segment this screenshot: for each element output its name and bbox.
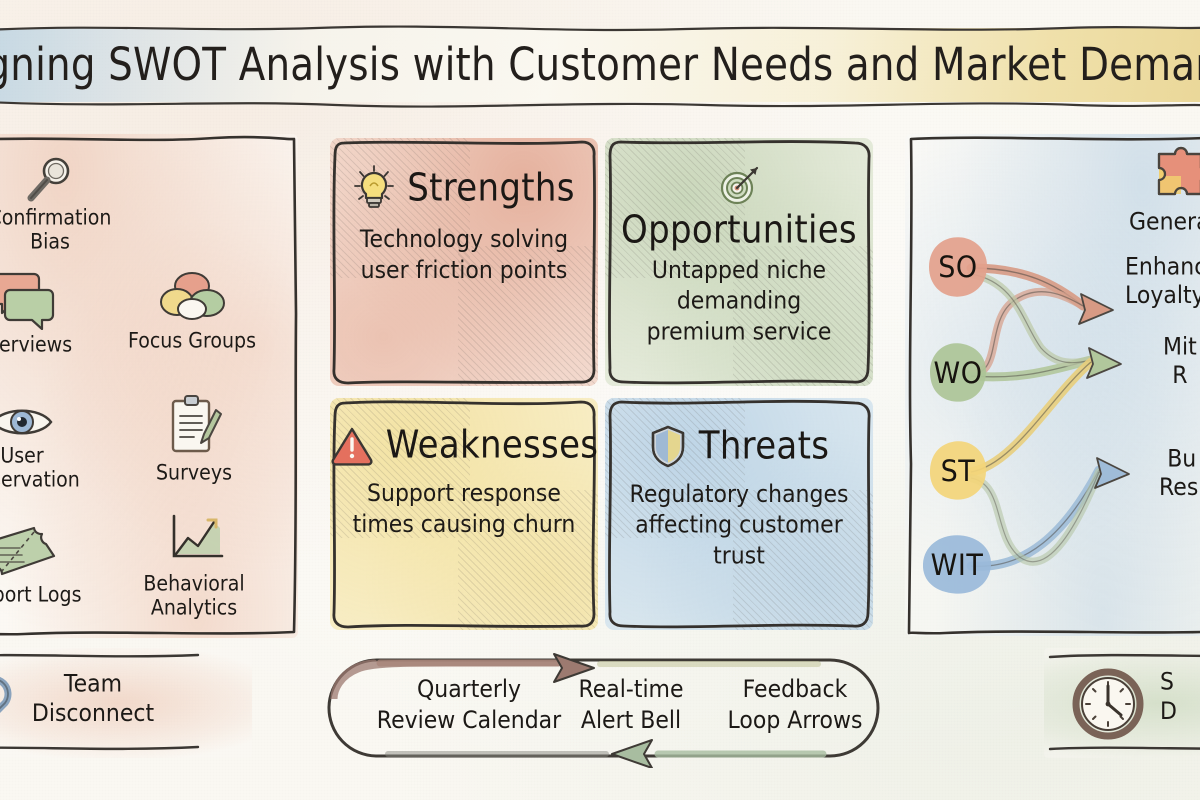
strategy-matrix-panel: SO WO ST WIT Generali Enhance Loyalty Mi… xyxy=(905,134,1200,636)
target-icon xyxy=(716,164,762,208)
badge-st[interactable]: ST xyxy=(927,439,989,503)
line-chart-icon xyxy=(158,510,230,570)
chip-slow-decision: S D xyxy=(1044,648,1200,758)
outcome-label-generalization: Generali xyxy=(1129,209,1200,238)
left-item-interviews: Interviews xyxy=(0,268,98,356)
swot-card-threats[interactable]: Threats Regulatory changes affecting cus… xyxy=(605,398,873,630)
opportunities-title: Opportunities xyxy=(621,208,857,253)
left-item-surveys: Surveys xyxy=(114,392,274,484)
threats-body: Regulatory changes affecting customer tr… xyxy=(612,480,867,572)
left-item-label: Interviews xyxy=(0,333,98,357)
weaknesses-title: Weaknesses xyxy=(386,423,599,468)
feedback-label-loop-arrows: Feedback Loop Arrows xyxy=(710,675,880,737)
opportunities-body: Untapped niche demanding premium service xyxy=(629,256,850,348)
left-item-label: User Observation xyxy=(0,444,102,492)
badge-wo[interactable]: WO xyxy=(927,341,989,405)
broken-link-icon xyxy=(0,670,24,732)
threats-title: Threats xyxy=(699,424,829,469)
feedback-label-realtime-alert: Real-time Alert Bell xyxy=(556,675,706,737)
lightbulb-icon xyxy=(353,164,395,212)
swot-card-strengths[interactable]: Strengths Technology solving user fricti… xyxy=(330,138,598,386)
outcome-label-build-resilience: Bu Resi xyxy=(1159,445,1200,502)
left-item-behavioral-analytics: Behavioral Analytics xyxy=(108,510,280,618)
slow-decision-label: S D xyxy=(1160,667,1200,726)
left-item-support-logs: Support Logs xyxy=(0,524,104,606)
left-item-user-observation: User Observation xyxy=(0,402,102,490)
feedback-label-quarterly-review: Quarterly Review Calendar xyxy=(354,675,584,737)
outcome-label-mitigate-risk: Mit R xyxy=(1163,333,1197,390)
feedback-loop: Quarterly Review Calendar Real-time Aler… xyxy=(318,650,888,768)
left-item-label: Behavioral Analytics xyxy=(108,572,280,620)
team-disconnect-label: Team Disconnect xyxy=(28,669,158,728)
eye-icon xyxy=(0,402,54,442)
page-title: Aligning SWOT Analysis with Customer Nee… xyxy=(4,23,1197,107)
left-item-confirmation-bias: Confirmation Bias xyxy=(0,156,140,252)
left-item-label: Focus Groups xyxy=(104,329,280,353)
chip-team-disconnect: Team Disconnect xyxy=(0,648,252,758)
shield-icon xyxy=(649,424,687,468)
badge-so[interactable]: SO xyxy=(927,235,989,299)
weaknesses-body: Support response times causing churn xyxy=(335,479,594,541)
magnifier-icon xyxy=(24,156,76,204)
group-bubbles-icon xyxy=(156,270,228,326)
clipboard-pencil-icon xyxy=(164,392,224,458)
left-item-focus-groups: Focus Groups xyxy=(104,270,280,352)
ticket-icon xyxy=(0,524,62,580)
left-item-label: Confirmation Bias xyxy=(0,206,140,254)
badge-so-label: SO xyxy=(938,250,977,284)
badge-wo-label: WO xyxy=(934,356,983,390)
outcome-label-enhanced-loyalty: Enhance Loyalty xyxy=(1125,253,1200,310)
speech-bubbles-icon xyxy=(0,268,56,330)
strengths-title: Strengths xyxy=(407,166,575,211)
swot-card-weaknesses[interactable]: Weaknesses Support response times causin… xyxy=(330,398,598,630)
badge-st-label: ST xyxy=(941,454,976,488)
strengths-body: Technology solving user friction points xyxy=(342,225,586,287)
left-item-label: Support Logs xyxy=(0,583,104,607)
badge-wit-label: WIT xyxy=(931,548,984,582)
puzzle-piece-icon xyxy=(1151,146,1200,204)
warning-triangle-icon xyxy=(330,424,374,466)
swot-card-opportunities[interactable]: Opportunities Untapped niche demanding p… xyxy=(605,138,873,386)
title-banner: Aligning SWOT Analysis with Customer Nee… xyxy=(0,28,1200,102)
clock-icon xyxy=(1070,666,1146,742)
left-item-label: Surveys xyxy=(114,461,274,485)
research-inputs-panel: Confirmation Bias Interviews Focus Group… xyxy=(0,134,298,638)
badge-wit[interactable]: WIT xyxy=(919,533,995,597)
